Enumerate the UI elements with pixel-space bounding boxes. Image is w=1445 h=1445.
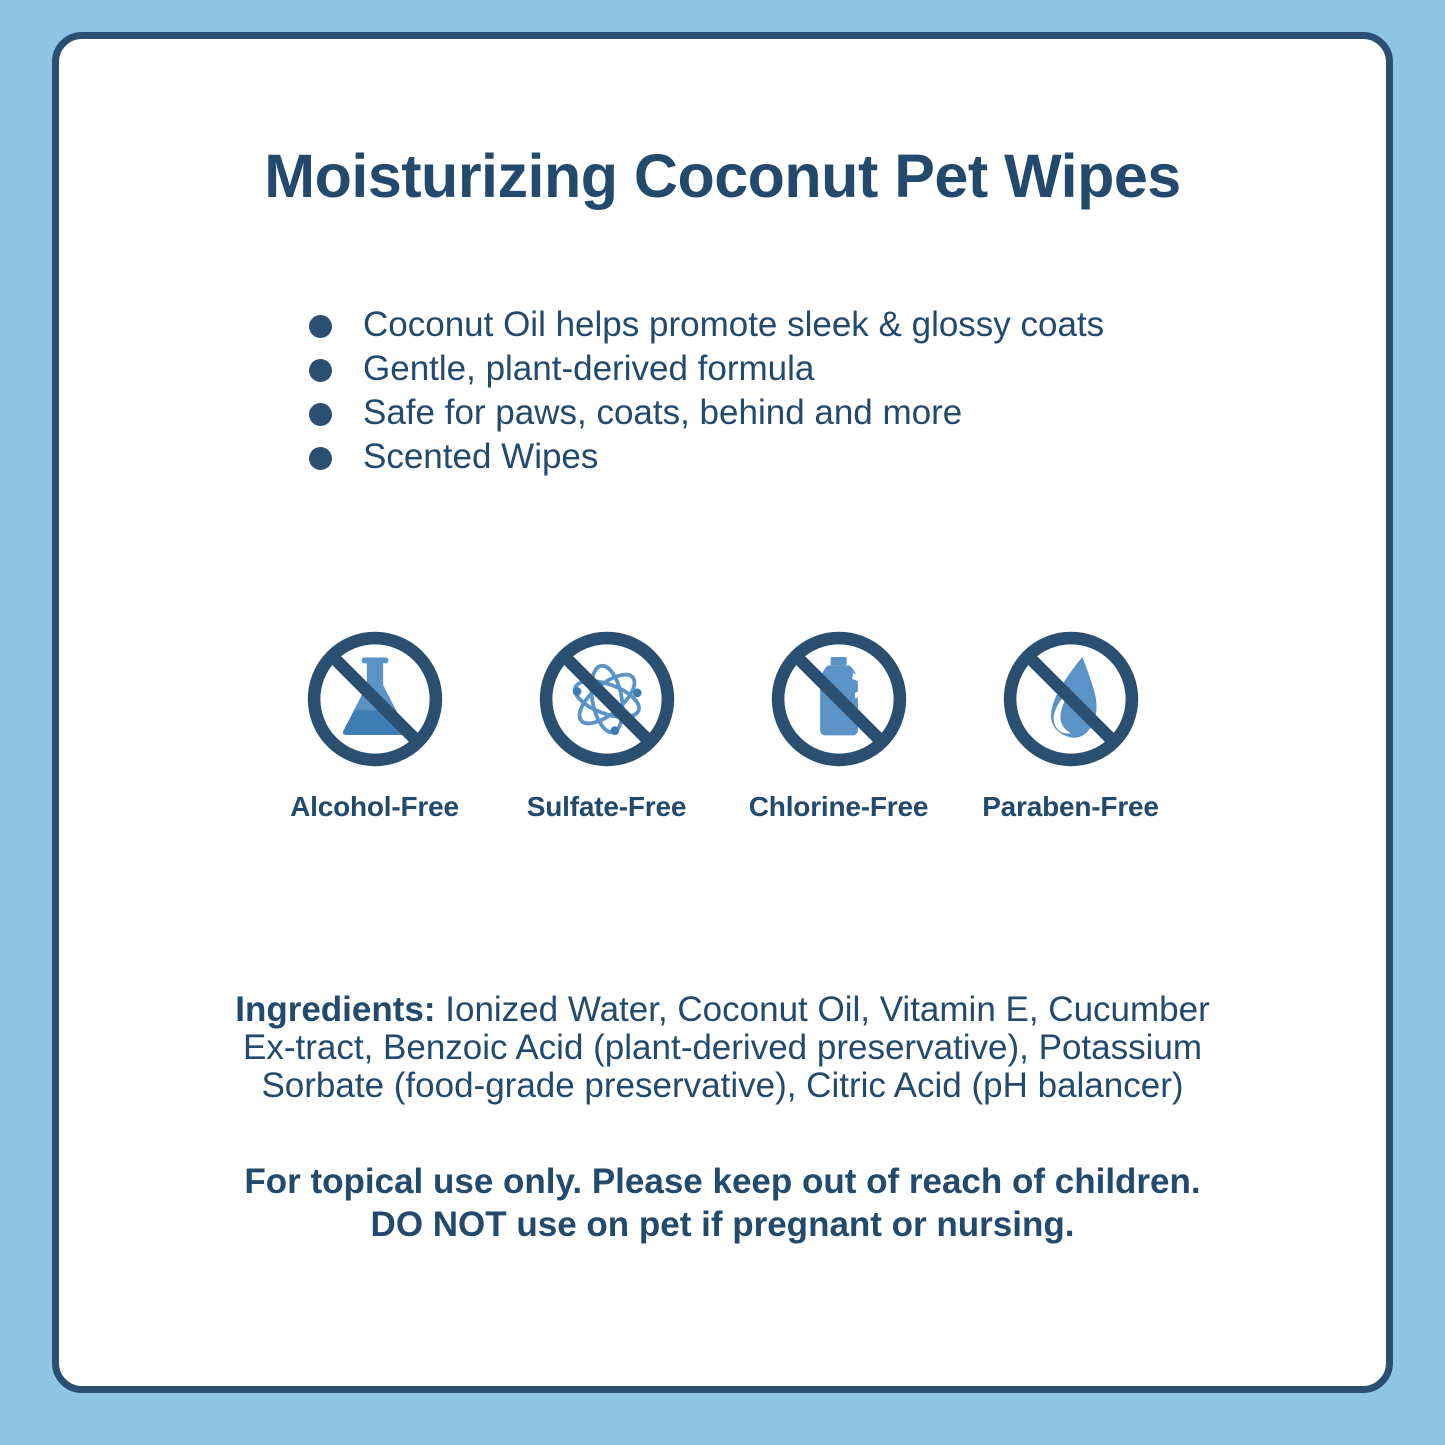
free-from-label: Chlorine-Free: [749, 791, 928, 823]
feature-list: Coconut Oil helps promote sleek & glossy…: [309, 305, 1309, 481]
free-from-icon-row: Alcohol-Free: [59, 629, 1386, 823]
warning-line-1: For topical use only. Please keep out of…: [179, 1160, 1266, 1203]
free-from-label: Paraben-Free: [982, 791, 1159, 823]
free-from-item-alcohol: Alcohol-Free: [259, 629, 491, 823]
free-from-label: Sulfate-Free: [527, 791, 686, 823]
no-jug-icon: [769, 629, 909, 769]
ingredients-heading: Ingredients:: [235, 990, 435, 1029]
bullet-dot-icon: [309, 403, 332, 426]
card-content: Moisturizing Coconut Pet Wipes Coconut O…: [59, 39, 1386, 1386]
info-card: Moisturizing Coconut Pet Wipes Coconut O…: [52, 32, 1393, 1393]
no-droplet-icon: [1001, 629, 1141, 769]
list-item: Safe for paws, coats, behind and more: [309, 393, 1309, 437]
no-atom-icon: [537, 629, 677, 769]
free-from-label: Alcohol-Free: [290, 791, 459, 823]
warning-line-2: DO NOT use on pet if pregnant or nursing…: [179, 1203, 1266, 1246]
product-infographic: Moisturizing Coconut Pet Wipes Coconut O…: [0, 0, 1445, 1445]
free-from-item-sulfate: Sulfate-Free: [491, 629, 723, 823]
bullet-dot-icon: [309, 359, 332, 382]
feature-text: Coconut Oil helps promote sleek & glossy…: [363, 305, 1104, 345]
feature-text: Safe for paws, coats, behind and more: [363, 393, 962, 433]
feature-text: Scented Wipes: [363, 437, 598, 477]
list-item: Gentle, plant-derived formula: [309, 349, 1309, 393]
bullet-dot-icon: [309, 447, 332, 470]
ingredients-block: Ingredients: Ionized Water, Coconut Oil,…: [214, 991, 1231, 1105]
free-from-item-chlorine: Chlorine-Free: [723, 629, 955, 823]
free-from-item-paraben: Paraben-Free: [955, 629, 1187, 823]
list-item: Scented Wipes: [309, 437, 1309, 481]
bullet-dot-icon: [309, 315, 332, 338]
feature-text: Gentle, plant-derived formula: [363, 349, 814, 389]
warning-block: For topical use only. Please keep out of…: [179, 1160, 1266, 1246]
no-flask-icon: [305, 629, 445, 769]
page-title: Moisturizing Coconut Pet Wipes: [59, 141, 1386, 211]
list-item: Coconut Oil helps promote sleek & glossy…: [309, 305, 1309, 349]
